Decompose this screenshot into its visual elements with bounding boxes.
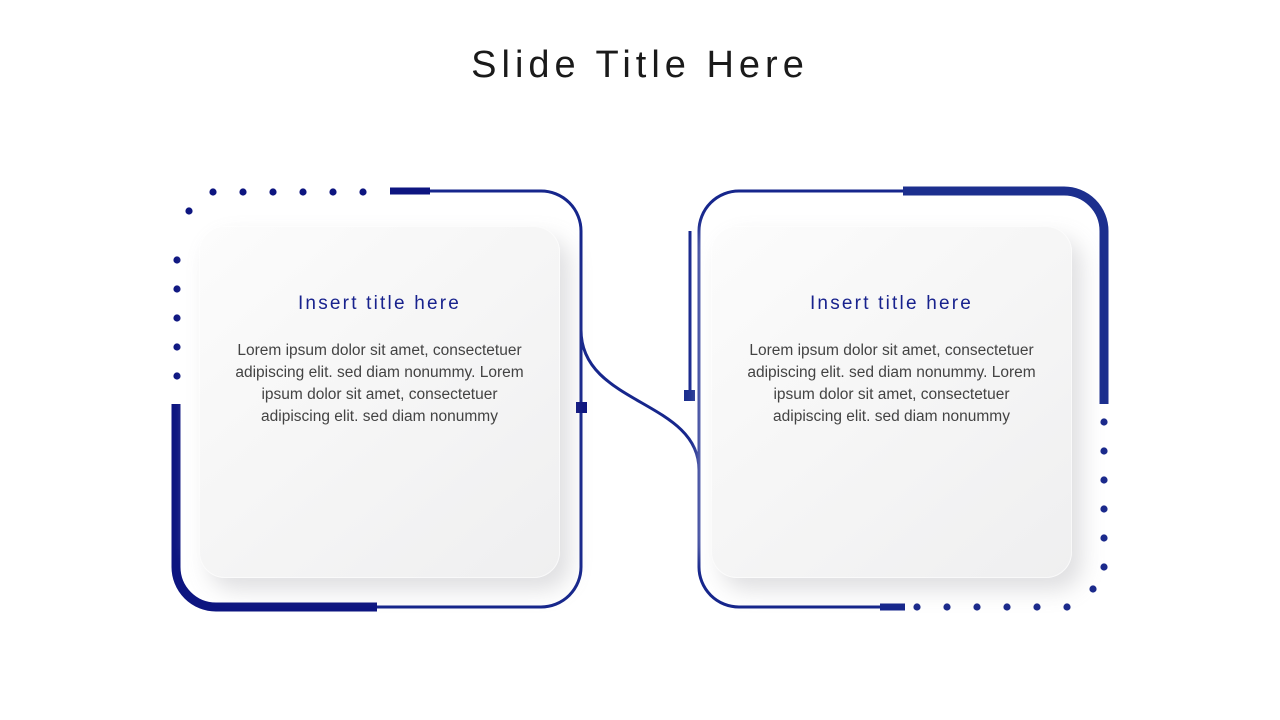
connector-curve: [581, 231, 699, 567]
right-frame-dots-corner: [1089, 585, 1096, 592]
card-right-title: Insert title here: [767, 290, 1017, 318]
connector-marker-right: [684, 390, 695, 401]
decoration-layer: [0, 0, 1280, 720]
card-left-title: Insert title here: [255, 290, 505, 318]
slide-canvas: Slide Title Here: [0, 0, 1280, 720]
left-frame-dots-horizontal: [209, 188, 366, 195]
card-right[interactable]: Insert title here Lorem ipsum dolor sit …: [711, 226, 1072, 578]
card-right-body: Lorem ipsum dolor sit amet, consectetuer…: [746, 340, 1038, 428]
left-frame-dots-vertical: [173, 256, 180, 379]
right-frame-dots-horizontal: [913, 603, 1070, 610]
page-title: Slide Title Here: [0, 44, 1280, 87]
card-left-body: Lorem ipsum dolor sit amet, consectetuer…: [234, 340, 526, 428]
right-frame-dots-vertical: [1100, 418, 1107, 570]
card-left[interactable]: Insert title here Lorem ipsum dolor sit …: [199, 226, 560, 578]
connector: [576, 231, 699, 567]
connector-marker-left: [576, 402, 587, 413]
left-frame-dots-corner: [185, 207, 192, 214]
